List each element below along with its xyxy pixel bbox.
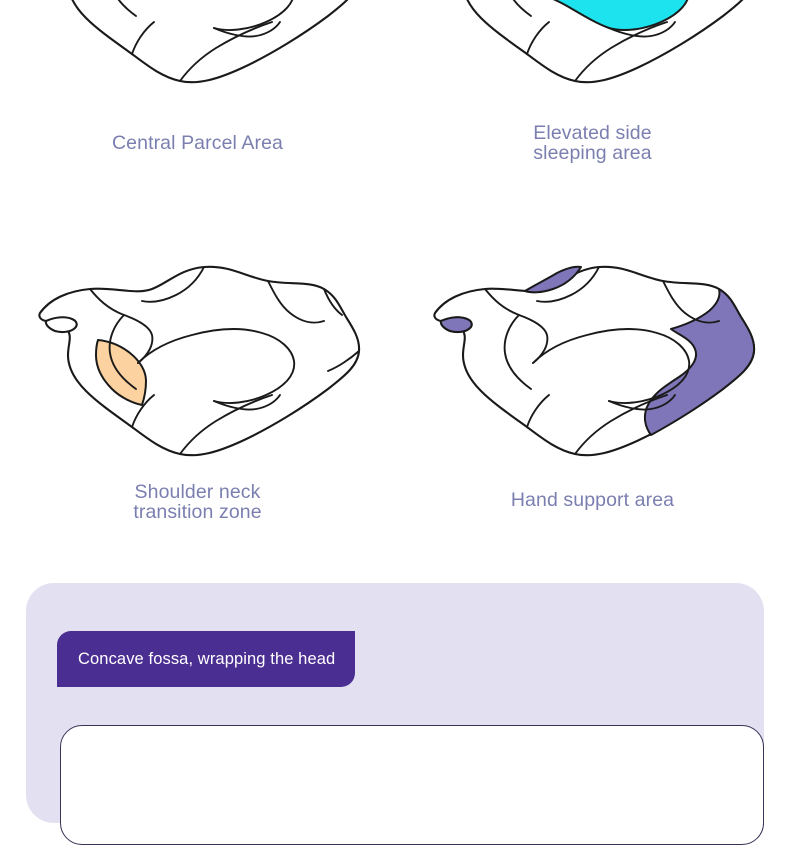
feature-label-central-parcel-area: Central Parcel Area	[0, 133, 395, 153]
feature-cell-elevated-side-sleeping-area: Elevated side sleeping area	[395, 0, 790, 182]
promo-tag-label: Concave fossa, wrapping the head	[78, 650, 335, 669]
feature-label-shoulder-neck-transition-zone: Shoulder neck transition zone	[0, 482, 395, 522]
highlight-purple-hand-zone-tip	[440, 317, 471, 332]
feature-label-hand-support-area: Hand support area	[395, 490, 790, 510]
promo-image-card	[60, 725, 764, 845]
promo-tag: Concave fossa, wrapping the head	[57, 631, 355, 687]
feature-cell-hand-support-area: Hand support area	[395, 255, 790, 505]
feature-cell-shoulder-neck-transition-zone: Shoulder neck transition zone	[0, 255, 395, 505]
pillow-illustration-hand-support-area	[423, 255, 763, 470]
feature-cell-central-parcel-area: Central Parcel Area	[0, 0, 395, 182]
pillow-illustration-central-parcel-area	[28, 0, 368, 97]
pillow-illustration-elevated-side-sleeping-area	[423, 0, 763, 97]
feature-grid: Central Parcel Area Elevated side sleepi…	[0, 0, 790, 560]
promo-panel: Concave fossa, wrapping the head	[26, 583, 764, 823]
feature-label-elevated-side-sleeping-area: Elevated side sleeping area	[395, 123, 790, 163]
pillow-illustration-shoulder-neck-transition-zone	[28, 255, 368, 470]
